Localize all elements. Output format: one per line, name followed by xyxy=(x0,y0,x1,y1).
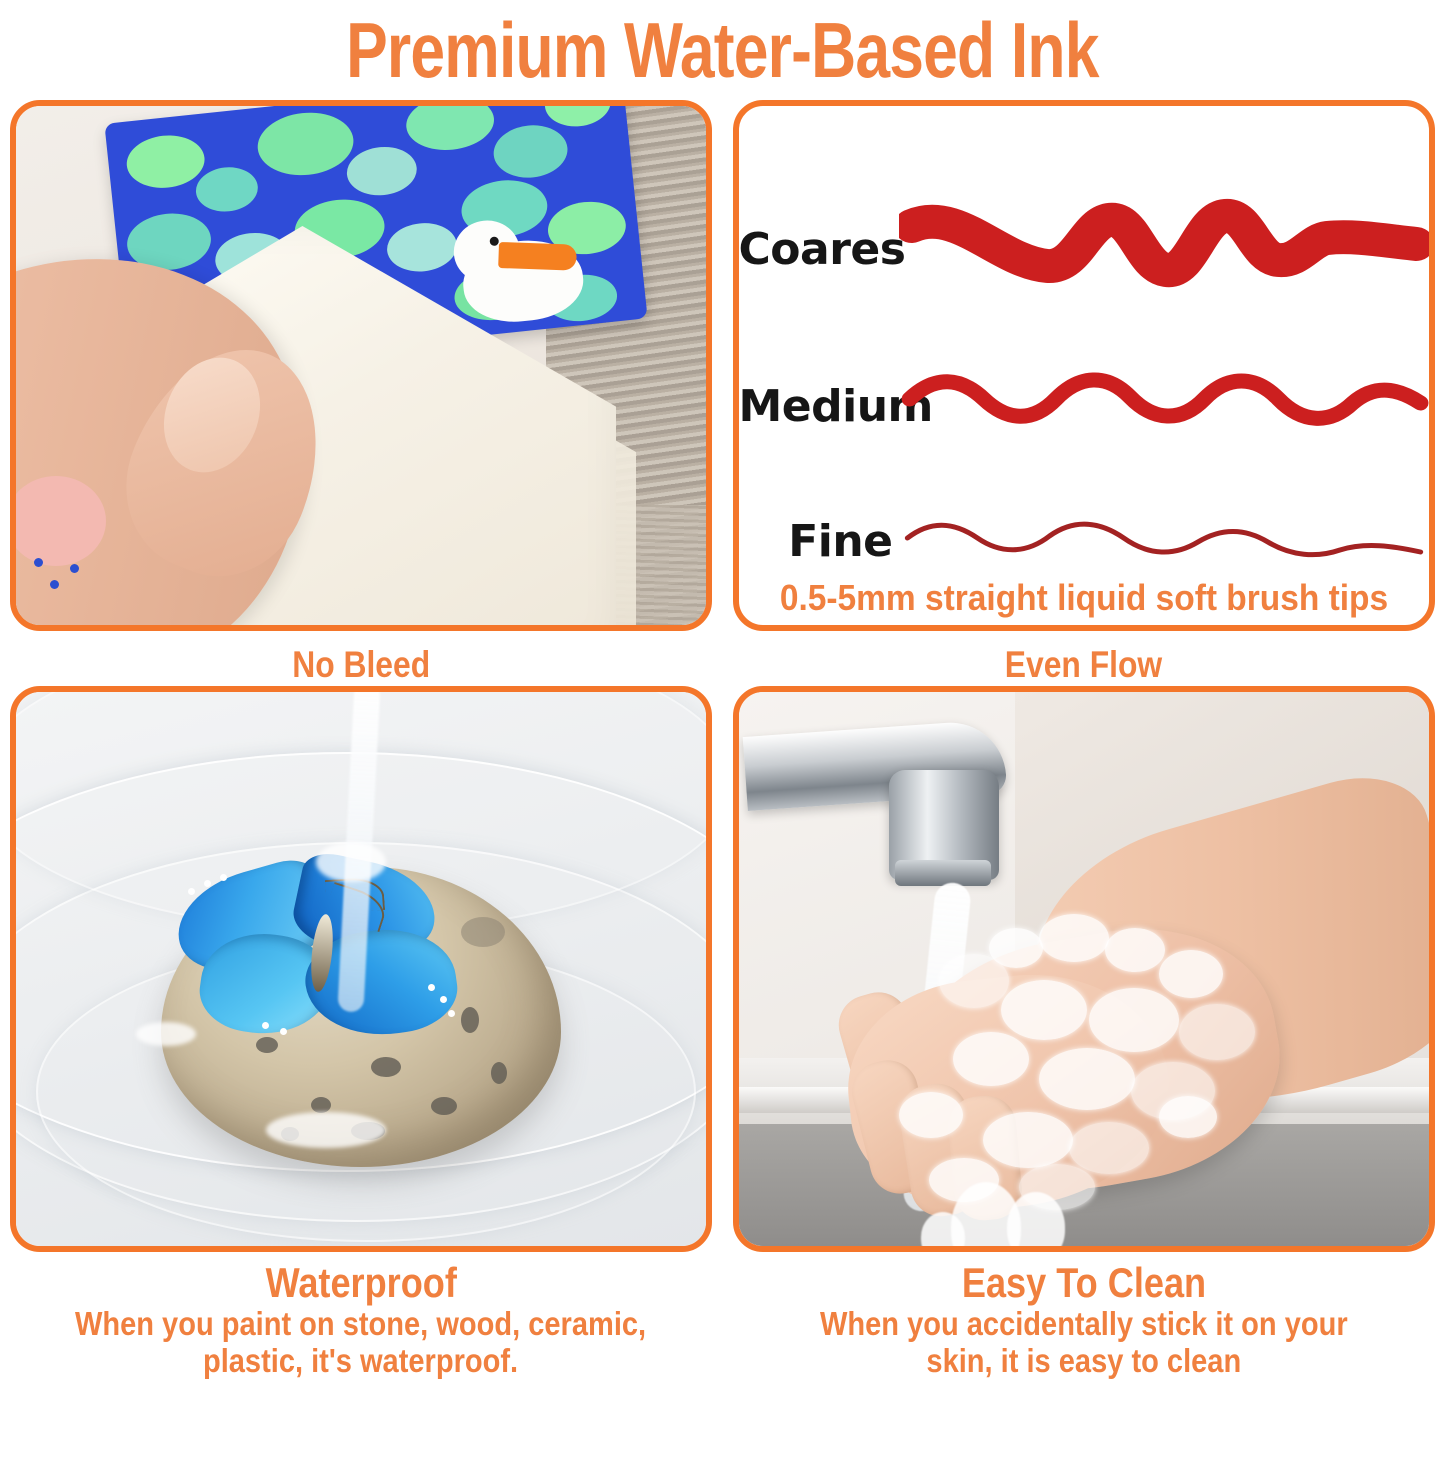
page-title: Premium Water-Based Ink xyxy=(346,11,1099,89)
brush-tip-spec-text: 0.5-5mm straight liquid soft brush tips xyxy=(763,577,1405,619)
stroke-demo-panel: Coares Medium xyxy=(733,100,1435,631)
caption-no-bleed: No Bleed xyxy=(281,645,441,686)
caption-title: No Bleed xyxy=(292,645,430,686)
stroke-art-coarse xyxy=(899,184,1429,314)
medium-stroke-icon xyxy=(899,341,1429,471)
stroke-label-medium: Medium xyxy=(739,381,899,432)
caption-subtitle: When you paint on stone, wood, ceramic, … xyxy=(75,1306,646,1380)
stroke-row-medium: Medium xyxy=(739,341,1429,471)
caption-title: Easy To Clean xyxy=(961,1260,1205,1306)
photo-hand-washing xyxy=(739,692,1429,1246)
photo-panel-easy-to-clean xyxy=(733,686,1435,1252)
finger-tip xyxy=(10,476,106,566)
caption-title: Even Flow xyxy=(1005,645,1162,686)
caption-even-flow: Even Flow xyxy=(992,645,1175,686)
butterfly-painting xyxy=(176,862,476,1052)
coarse-stroke-icon xyxy=(899,184,1429,314)
feature-cell-waterproof: Waterproof When you paint on stone, wood… xyxy=(0,686,722,1468)
caption-subtitle: When you accidentally stick it on your s… xyxy=(820,1306,1348,1380)
photo-page-flip xyxy=(16,106,706,625)
caption-easy-to-clean: Easy To Clean When you accidentally stic… xyxy=(784,1260,1384,1380)
feature-cell-easy-to-clean: Easy To Clean When you accidentally stic… xyxy=(722,686,1445,1468)
stroke-label-coarse: Coares xyxy=(739,224,899,275)
header: Premium Water-Based Ink xyxy=(0,0,1445,100)
stroke-label-fine: Fine xyxy=(739,516,899,567)
stroke-art-medium xyxy=(899,341,1429,471)
photo-panel-waterproof xyxy=(10,686,712,1252)
stroke-row-coarse: Coares xyxy=(739,184,1429,314)
faucet-aerator xyxy=(895,860,991,886)
caption-waterproof: Waterproof When you paint on stone, wood… xyxy=(36,1260,685,1380)
feature-cell-even-flow: Coares Medium xyxy=(722,100,1445,686)
feature-grid: No Bleed Coares Medium xyxy=(0,100,1445,1468)
caption-title: Waterproof xyxy=(265,1260,456,1306)
feature-cell-no-bleed: No Bleed xyxy=(0,100,722,686)
photo-panel-no-bleed xyxy=(10,100,712,631)
photo-butterfly-stone xyxy=(16,692,706,1246)
